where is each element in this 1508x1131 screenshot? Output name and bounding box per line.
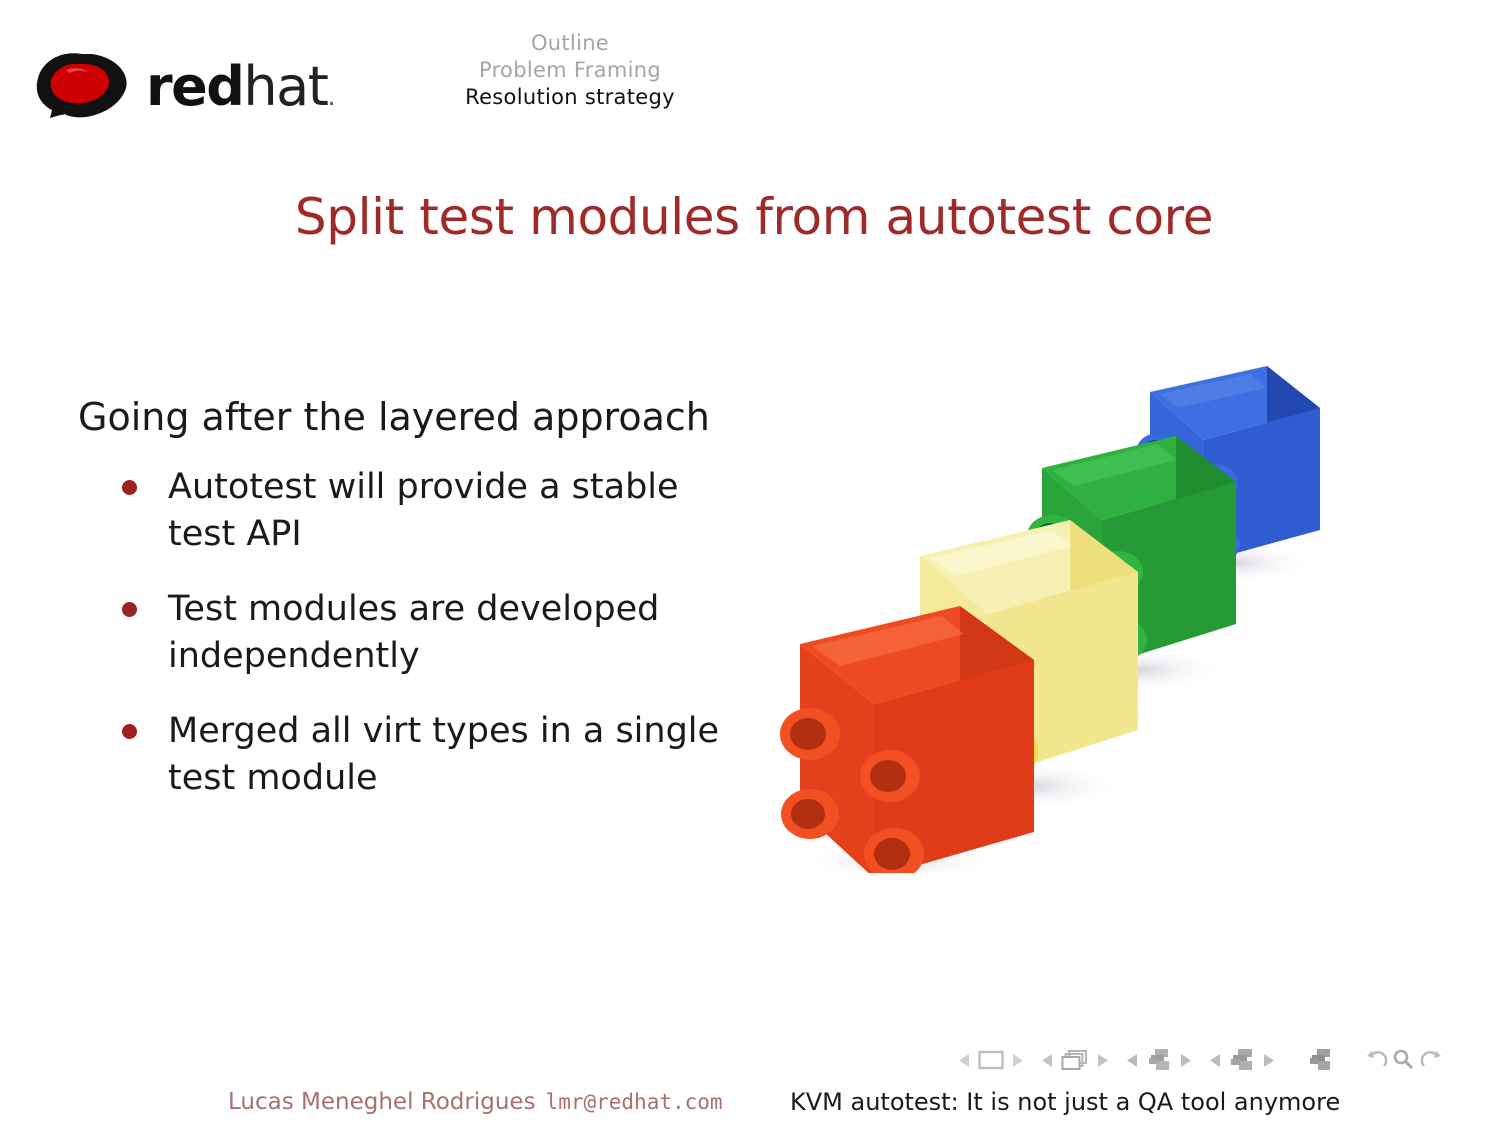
bullet-list: Autotest will provide a stable test API …	[78, 464, 738, 802]
nav-group-section	[1126, 1048, 1192, 1072]
list-item: Test modules are developed independently	[122, 586, 738, 680]
logo-word-hat: hat	[243, 55, 327, 118]
list-item: Autotest will provide a stable test API	[122, 464, 738, 558]
nav-group-slide	[958, 1050, 1024, 1070]
bullet-text: Autotest will provide a stable test API	[168, 464, 728, 558]
author-name: Lucas Meneghel Rodrigues	[228, 1089, 536, 1115]
redhat-shadowman-icon	[30, 48, 138, 126]
next-presentation-icon[interactable]	[1262, 1053, 1275, 1068]
next-slide-icon[interactable]	[1011, 1053, 1024, 1068]
nav-section-resolution-strategy[interactable]: Resolution strategy	[420, 84, 720, 111]
nav-section-outline[interactable]: Outline	[420, 30, 720, 57]
frame-icon[interactable]	[978, 1050, 1004, 1070]
next-subsection-icon[interactable]	[1096, 1053, 1109, 1068]
list-item: Merged all virt types in a single test m…	[122, 708, 738, 802]
back-arrow-icon[interactable]	[1364, 1049, 1388, 1071]
prev-presentation-icon[interactable]	[1209, 1053, 1222, 1068]
stacked-sections-icon[interactable]	[1146, 1048, 1172, 1072]
lego-brick-red	[780, 606, 1034, 873]
bullet-dot-icon	[122, 602, 137, 617]
logo-word-red: red	[146, 55, 243, 118]
next-section-icon[interactable]	[1179, 1053, 1192, 1068]
author-email[interactable]: lmr@redhat.com	[546, 1090, 723, 1114]
stacked-frames-icon[interactable]	[1061, 1049, 1089, 1071]
slide-header: redhat. Outline Problem Framing Resoluti…	[0, 0, 1508, 150]
footer-talk-title: KVM autotest: It is not just a QA tool a…	[790, 1087, 1340, 1117]
forward-arrow-icon[interactable]	[1420, 1049, 1444, 1071]
slide-canvas: redhat. Outline Problem Framing Resoluti…	[0, 0, 1508, 1131]
document-icon[interactable]	[1308, 1048, 1334, 1072]
search-icon[interactable]	[1392, 1049, 1416, 1071]
bullet-text: Merged all virt types in a single test m…	[168, 708, 728, 802]
body-lead-text: Going after the layered approach	[78, 392, 738, 442]
stacked-presentation-icon[interactable]	[1229, 1048, 1255, 1072]
prev-section-icon[interactable]	[1126, 1053, 1139, 1068]
lego-bricks-photo	[780, 348, 1405, 873]
beamer-navigation-bar	[958, 1048, 1444, 1072]
redhat-logo: redhat.	[30, 48, 334, 126]
bullet-text: Test modules are developed independently	[168, 586, 728, 680]
nav-tail-group	[1308, 1048, 1444, 1072]
footer-author: Lucas Meneghel Rodrigueslmr@redhat.com	[228, 1087, 723, 1117]
bullet-dot-icon	[122, 724, 137, 739]
logo-word-dot: .	[327, 82, 334, 112]
nav-group-subsection	[1041, 1049, 1109, 1071]
prev-subsection-icon[interactable]	[1041, 1053, 1054, 1068]
slide-body: Going after the layered approach Autotes…	[78, 392, 738, 830]
redhat-wordmark: redhat.	[146, 60, 334, 114]
nav-group-presentation	[1209, 1048, 1275, 1072]
slide-title: Split test modules from autotest core	[0, 186, 1508, 248]
bullet-dot-icon	[122, 480, 137, 495]
prev-slide-icon[interactable]	[958, 1053, 971, 1068]
section-navigation: Outline Problem Framing Resolution strat…	[420, 30, 720, 111]
nav-section-problem-framing[interactable]: Problem Framing	[420, 57, 720, 84]
